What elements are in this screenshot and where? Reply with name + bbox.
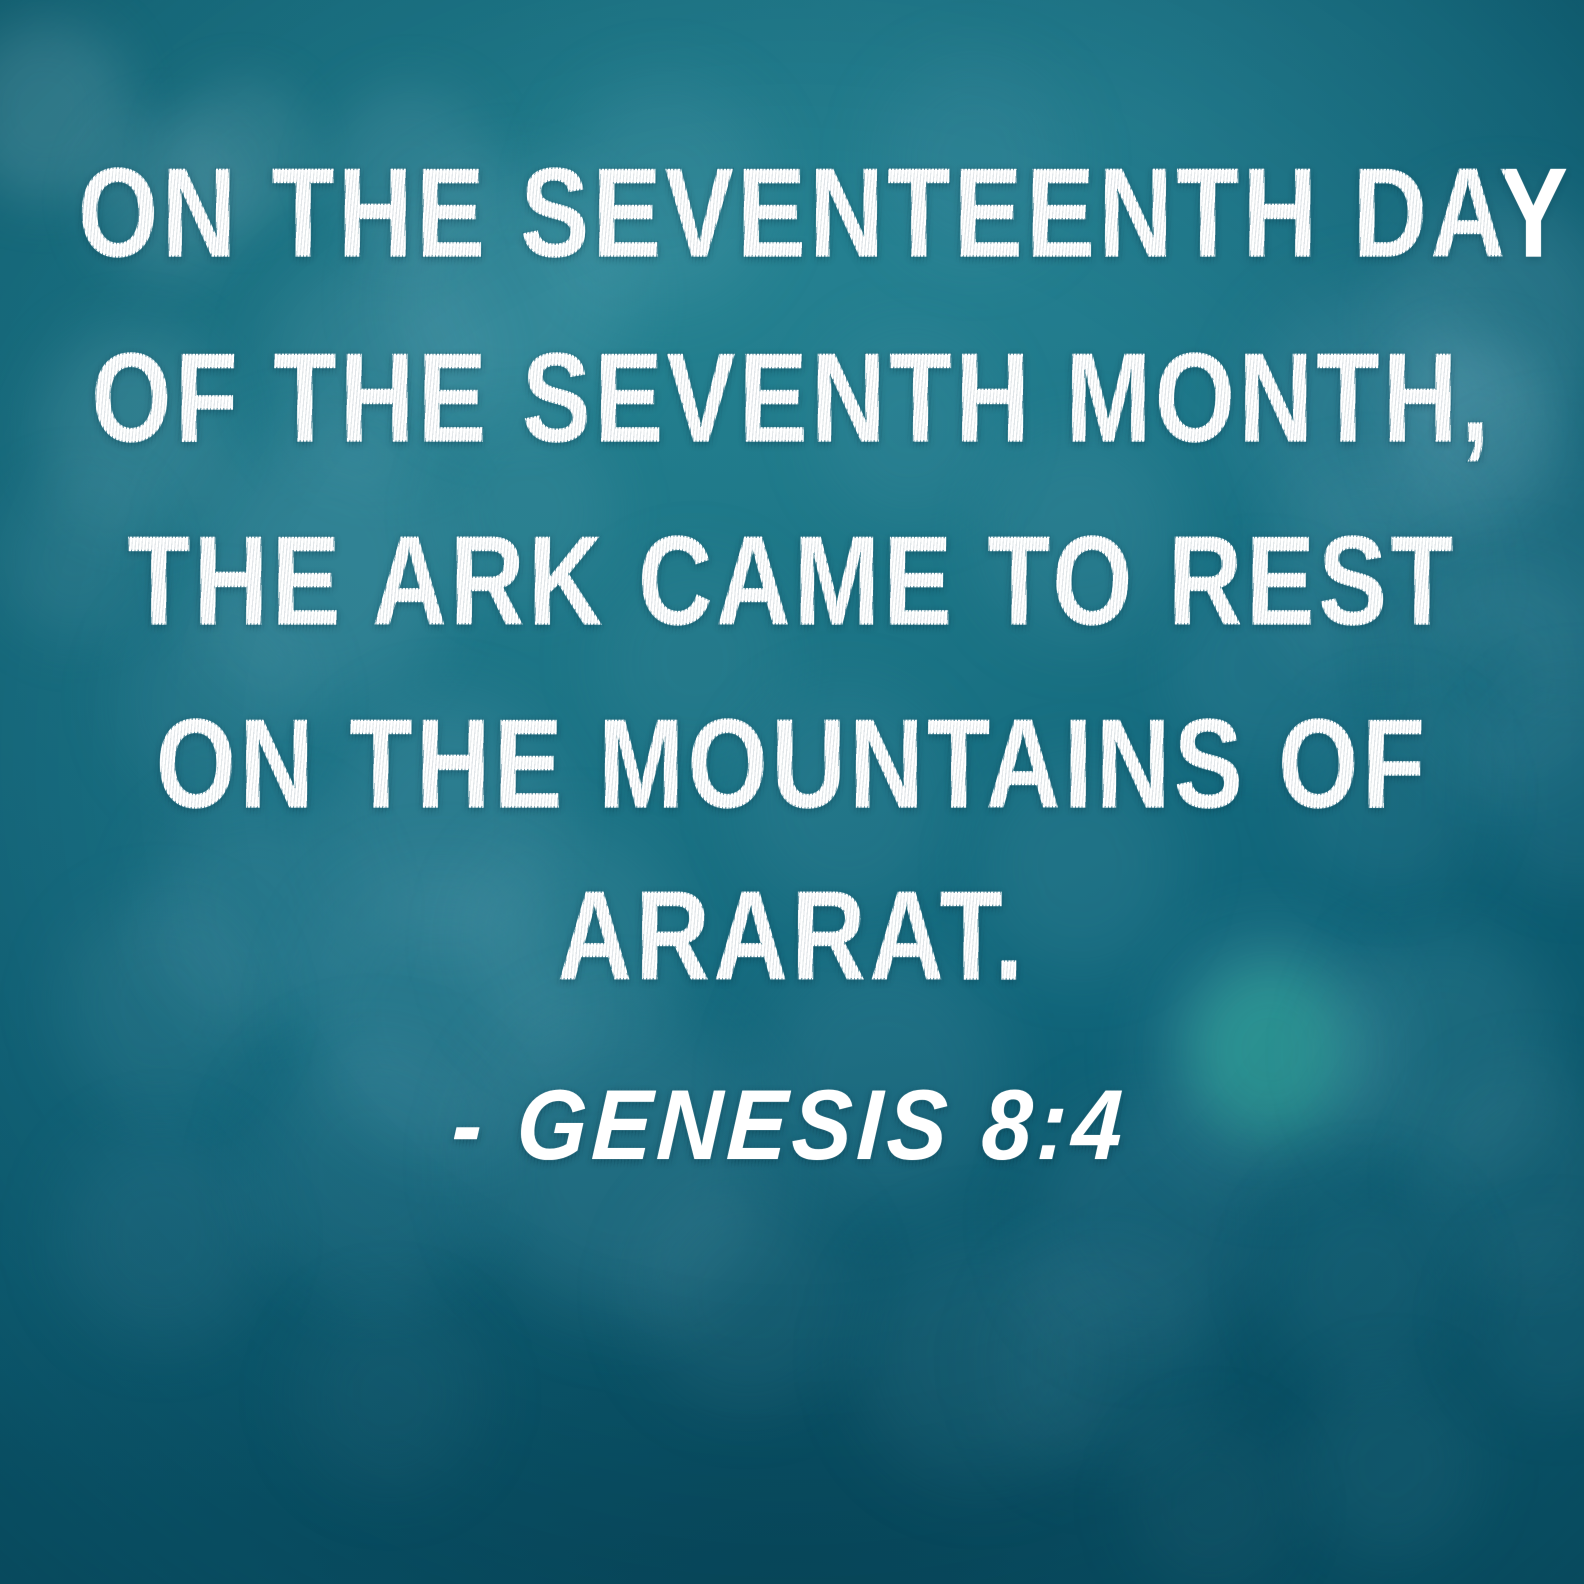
verse-line-3-text: THE ARK CAME TO REST xyxy=(127,509,1457,652)
verse-line-5: ARARAT. xyxy=(78,871,1506,1001)
verse-line-1: ON THE SEVENTEENTH DAY xyxy=(78,148,1506,278)
verse-line-1-text: ON THE SEVENTEENTH DAY xyxy=(78,141,1571,284)
verse-line-4-text: ON THE MOUNTAINS OF xyxy=(156,692,1429,835)
verse-line-5-text: ARARAT. xyxy=(557,863,1026,1006)
verse-line-2-text: OF THE SEVENTH MONTH, xyxy=(91,326,1493,469)
verse-text-block: ON THE SEVENTEENTH DAY OF THE SEVENTH MO… xyxy=(0,0,1584,1584)
verse-attribution-text: - GENESIS 8:4 xyxy=(450,1070,1130,1180)
verse-line-4: ON THE MOUNTAINS OF xyxy=(78,699,1506,829)
verse-graphic-canvas: ON THE SEVENTEENTH DAY OF THE SEVENTH MO… xyxy=(0,0,1584,1584)
verse-line-3: THE ARK CAME TO REST xyxy=(78,516,1506,646)
verse-line-2: OF THE SEVENTH MONTH, xyxy=(78,333,1506,463)
verse-attribution: - GENESIS 8:4 xyxy=(62,1076,1517,1175)
